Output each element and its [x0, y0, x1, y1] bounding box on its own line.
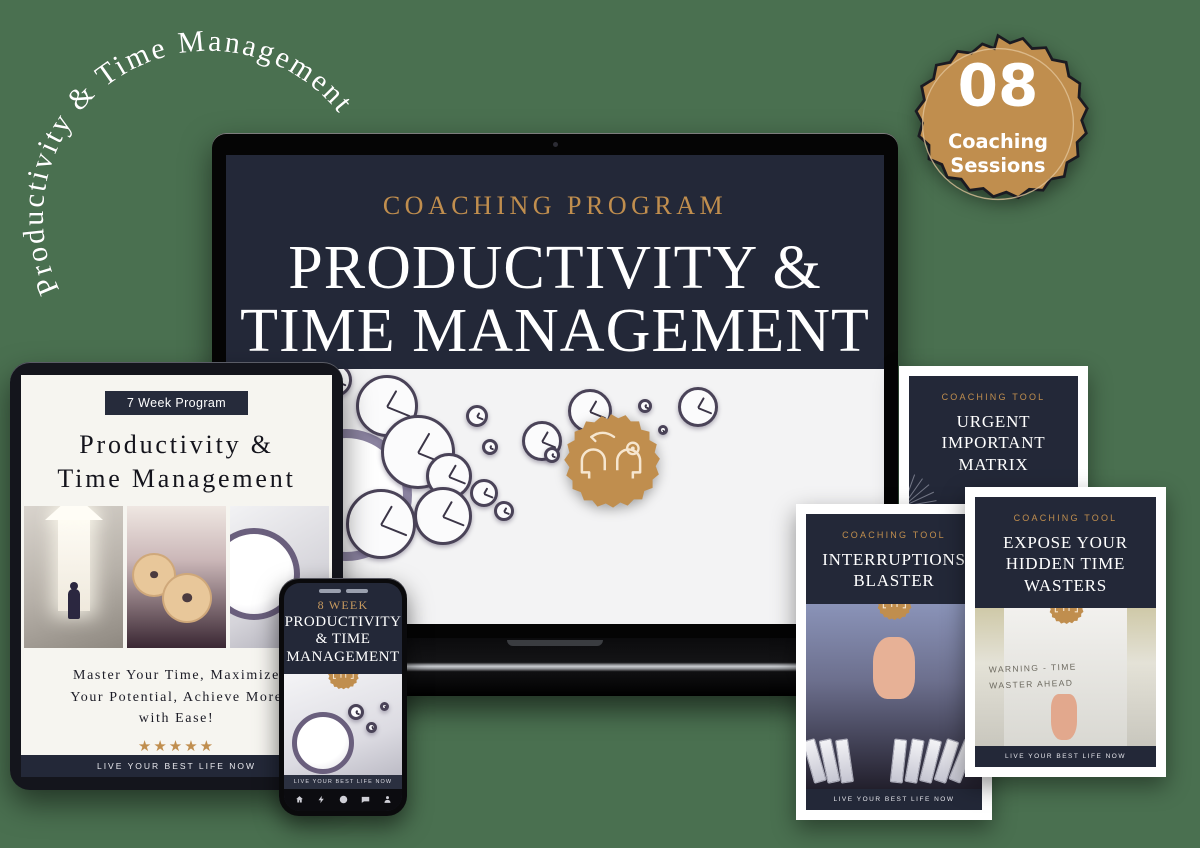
seal-scallop-shape — [877, 604, 912, 620]
coaching-tool-card-interruptions: COACHING TOOL INTERRUPTIONS BLASTER — [796, 504, 992, 820]
phone-mockup: 8 WEEK PRODUCTIVITY & TIME MANAGEMENT LI… — [279, 578, 407, 816]
phone-screen: 8 WEEK PRODUCTIVITY & TIME MANAGEMENT LI… — [284, 583, 402, 811]
walking-toward-light-photo — [24, 506, 123, 648]
clock-graphic — [414, 487, 472, 545]
handwritten-warning-text: WARNING - TIME WASTER AHEAD — [989, 659, 1078, 694]
clock-graphic — [292, 712, 354, 774]
sessions-count: 08 — [958, 52, 1039, 120]
phone-nav-bar[interactable] — [284, 789, 402, 811]
phone-clock-photo — [284, 674, 402, 775]
coaching-sessions-badge: 08 Coaching Sessions — [906, 32, 1090, 216]
hand-graphic — [873, 637, 915, 699]
hand-with-pen-graphic — [1051, 694, 1077, 740]
laptop-camera-icon — [553, 142, 558, 147]
gear-icon — [141, 562, 167, 588]
person-silhouette-icon — [68, 589, 80, 619]
seal-scallop-shape — [1048, 608, 1083, 624]
card-kicker: COACHING TOOL — [806, 530, 982, 540]
two-heads-gear-seal — [326, 674, 360, 692]
story-bar — [346, 589, 368, 593]
sessions-label-line1: Coaching — [948, 130, 1048, 153]
sessions-label-line2: Sessions — [950, 154, 1045, 177]
clock-graphic — [470, 479, 498, 507]
warning-handwriting-photo: WARNING - TIME WASTER AHEAD — [975, 608, 1156, 746]
clock-graphic — [678, 387, 718, 427]
two-heads-gear-seal — [875, 604, 913, 623]
clock-graphic — [494, 501, 514, 521]
profile-icon[interactable] — [383, 795, 392, 804]
laptop-kicker: COACHING PROGRAM — [226, 191, 884, 221]
clock-graphic — [348, 704, 364, 720]
program-length-badge: 7 Week Program — [105, 391, 248, 415]
clock-graphic — [380, 702, 389, 711]
coaching-tool-card-time-wasters: COACHING TOOL EXPOSE YOUR HIDDEN TIME WA… — [965, 487, 1166, 777]
clock-graphic — [346, 489, 416, 559]
card-title: EXPOSE YOUR HIDDEN TIME WASTERS — [975, 532, 1156, 596]
card-inner: COACHING TOOL INTERRUPTIONS BLASTER — [806, 514, 982, 810]
clock-graphic — [466, 405, 488, 427]
phone-story-bars — [284, 583, 402, 593]
phone-week-label: 8 WEEK — [284, 598, 402, 613]
business-team-gears-photo — [127, 506, 226, 648]
two-heads-gear-seal — [559, 412, 663, 516]
seal-scallop-shape — [328, 674, 359, 689]
clock-graphic — [366, 722, 377, 733]
tablet-title: Productivity & Time Management — [21, 428, 332, 496]
card-inner: COACHING TOOL EXPOSE YOUR HIDDEN TIME WA… — [975, 497, 1156, 767]
dominoes-hand-photo — [806, 604, 982, 790]
phone-footer: LIVE YOUR BEST LIFE NOW — [284, 775, 402, 789]
card-footer: LIVE YOUR BEST LIFE NOW — [975, 746, 1156, 767]
gear-icon — [171, 582, 203, 614]
clock-graphic — [544, 447, 560, 463]
card-footer: LIVE YOUR BEST LIFE NOW — [806, 789, 982, 810]
laptop-title: PRODUCTIVITY & TIME MANAGEMENT — [226, 237, 884, 363]
add-icon[interactable] — [339, 795, 348, 804]
story-bar — [319, 589, 341, 593]
laptop-trackpad-notch — [507, 640, 603, 646]
gear-center-icon — [631, 447, 635, 451]
clock-graphic — [482, 439, 498, 455]
seal-scallop-shape — [564, 414, 660, 508]
reels-icon[interactable] — [317, 795, 326, 804]
two-heads-gear-seal — [1047, 608, 1085, 627]
product-mockup-stage: Productivity & Time Management 08 Coachi… — [0, 0, 1200, 848]
card-title: INTERRUPTIONS BLASTER — [806, 549, 982, 592]
phone-title: PRODUCTIVITY & TIME MANAGEMENT — [284, 614, 402, 666]
home-icon[interactable] — [295, 795, 304, 804]
messages-icon[interactable] — [361, 795, 370, 804]
card-kicker: COACHING TOOL — [975, 513, 1156, 523]
laptop-screen-header: COACHING PROGRAM PRODUCTIVITY & TIME MAN… — [226, 155, 884, 363]
card-kicker: COACHING TOOL — [909, 392, 1078, 402]
